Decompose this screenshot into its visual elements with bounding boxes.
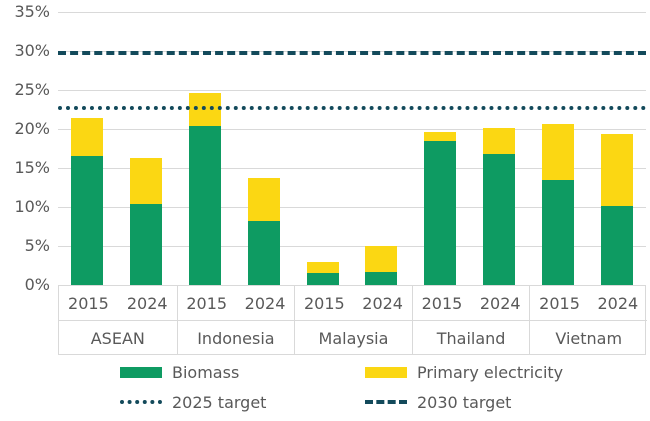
bar-indonesia-2015[interactable] (189, 93, 221, 285)
x-axis-group-label: Vietnam (530, 320, 647, 355)
bar-segment-biomass[interactable] (130, 204, 162, 285)
y-tick-25: 25% (2, 82, 50, 98)
x-axis-year-2024: 2024 (118, 286, 177, 320)
bar-thailand-2024[interactable] (483, 128, 515, 285)
y-tick-10: 10% (2, 199, 50, 215)
legend-item-primary-electricity[interactable]: Primary electricity (365, 360, 563, 384)
x-axis-year-2024: 2024 (353, 286, 411, 320)
y-tick-20: 20% (2, 121, 50, 137)
bar-segment-primary-electricity[interactable] (365, 246, 397, 272)
chart-legend: Biomass Primary electricity 2025 target … (120, 360, 590, 416)
bar-malaysia-2015[interactable] (307, 262, 339, 285)
legend-swatch-biomass (120, 367, 162, 378)
reference-line-2025-target (58, 106, 646, 110)
x-axis-group-label: Indonesia (178, 320, 295, 355)
bar-segment-primary-electricity[interactable] (248, 178, 280, 221)
stacked-bar-chart: 35% 30% 25% 20% 15% 10% 5% 0% 20152024AS… (0, 0, 650, 421)
plot-area (58, 12, 646, 285)
bar-vietnam-2024[interactable] (601, 134, 633, 285)
bar-vietnam-2015[interactable] (542, 124, 574, 285)
legend-swatch-primary-electricity (365, 367, 407, 378)
bar-segment-biomass[interactable] (248, 221, 280, 285)
legend-item-biomass[interactable]: Biomass (120, 360, 365, 384)
bar-malaysia-2024[interactable] (365, 246, 397, 285)
legend-label-primary-electricity: Primary electricity (417, 363, 563, 382)
legend-label-target-2030: 2030 target (417, 393, 511, 412)
bar-indonesia-2024[interactable] (248, 178, 280, 285)
legend-swatch-target-2030 (365, 400, 407, 404)
bar-asean-2024[interactable] (130, 158, 162, 285)
legend-swatch-target-2025 (120, 400, 162, 404)
bar-segment-primary-electricity[interactable] (307, 262, 339, 273)
y-axis: 35% 30% 25% 20% 15% 10% 5% 0% (0, 12, 50, 285)
y-tick-5: 5% (2, 238, 50, 254)
x-axis-group-thailand: 20152024Thailand (412, 286, 530, 354)
bar-segment-primary-electricity[interactable] (71, 118, 103, 155)
x-axis-year-2024: 2024 (471, 286, 529, 320)
bar-asean-2015[interactable] (71, 118, 103, 285)
x-axis-group-vietnam: 20152024Vietnam (529, 286, 647, 354)
x-axis-group-asean: 20152024ASEAN (59, 286, 177, 354)
x-axis-year-2024: 2024 (236, 286, 294, 320)
gridline-25 (58, 90, 646, 91)
bar-segment-biomass[interactable] (424, 141, 456, 285)
bar-segment-biomass[interactable] (483, 154, 515, 285)
legend-label-target-2025: 2025 target (172, 393, 266, 412)
bar-segment-primary-electricity[interactable] (483, 128, 515, 154)
x-axis-year-2015: 2015 (530, 286, 588, 320)
bar-segment-primary-electricity[interactable] (130, 158, 162, 204)
reference-line-2030-target (58, 51, 646, 55)
x-axis-year-2015: 2015 (59, 286, 118, 320)
x-axis-year-2015: 2015 (295, 286, 353, 320)
legend-item-target-2025[interactable]: 2025 target (120, 390, 365, 414)
y-tick-0: 0% (2, 277, 50, 293)
x-axis-group-indonesia: 20152024Indonesia (177, 286, 295, 354)
bar-segment-biomass[interactable] (542, 180, 574, 285)
bar-segment-biomass[interactable] (307, 273, 339, 285)
bar-segment-biomass[interactable] (601, 206, 633, 285)
x-axis-year-labels: 20152024 (59, 286, 177, 320)
y-tick-15: 15% (2, 160, 50, 176)
bar-segment-primary-electricity[interactable] (601, 134, 633, 206)
x-axis-year-labels: 20152024 (530, 286, 647, 320)
bar-segment-primary-electricity[interactable] (542, 124, 574, 180)
x-axis-year-2015: 2015 (178, 286, 236, 320)
bar-segment-biomass[interactable] (71, 156, 103, 285)
x-axis-group-malaysia: 20152024Malaysia (294, 286, 412, 354)
x-axis-group-label: Malaysia (295, 320, 412, 355)
bar-segment-biomass[interactable] (189, 126, 221, 285)
x-axis-group-label: ASEAN (59, 320, 177, 355)
x-axis-year-2015: 2015 (413, 286, 471, 320)
y-tick-35: 35% (2, 4, 50, 20)
x-axis-year-2024: 2024 (589, 286, 647, 320)
x-axis-group-label: Thailand (413, 320, 530, 355)
gridline-35 (58, 12, 646, 13)
bar-segment-biomass[interactable] (365, 272, 397, 285)
bar-segment-primary-electricity[interactable] (424, 132, 456, 141)
x-axis-year-labels: 20152024 (295, 286, 412, 320)
x-axis-year-labels: 20152024 (413, 286, 530, 320)
x-axis-year-labels: 20152024 (178, 286, 295, 320)
legend-label-biomass: Biomass (172, 363, 239, 382)
y-tick-30: 30% (2, 43, 50, 59)
x-axis: 20152024ASEAN20152024Indonesia20152024Ma… (58, 285, 646, 355)
bar-thailand-2015[interactable] (424, 132, 456, 285)
legend-item-target-2030[interactable]: 2030 target (365, 390, 511, 414)
